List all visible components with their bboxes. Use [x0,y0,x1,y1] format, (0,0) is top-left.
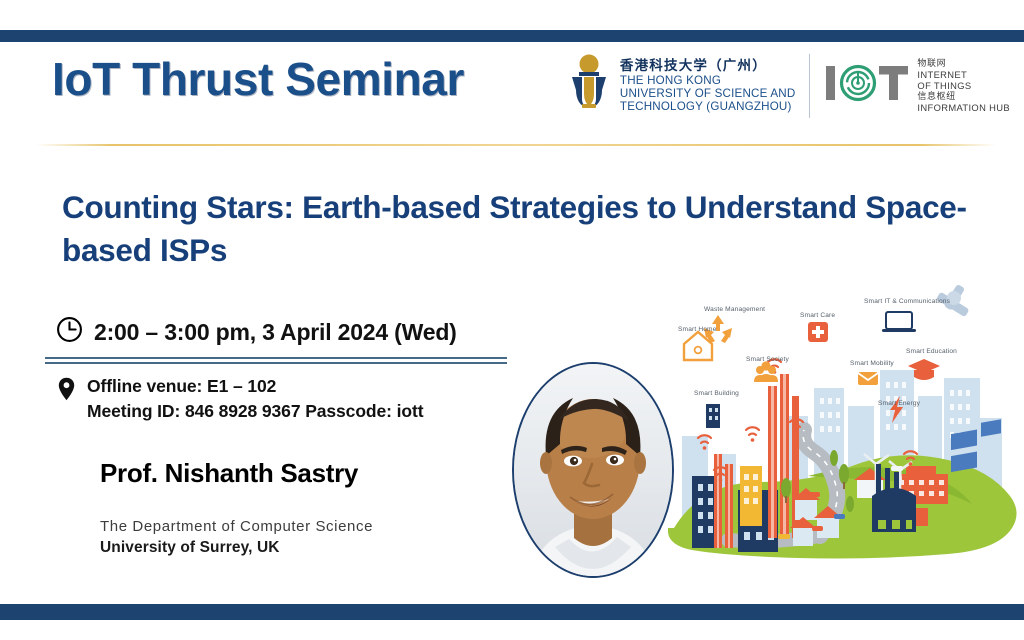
venue-location: Offline venue: E1 – 102 [87,374,423,399]
city-label: Smart Society [746,356,789,363]
iot-hub-logo: 物联网 INTERNET OF THINGS 信息枢纽 INFORMATION … [824,58,1010,113]
hkust-wordmark: 香港科技大学（广州） THE HONG KONG UNIVERSITY OF S… [620,58,796,112]
hkust-name-line1: THE HONG KONG [620,74,796,87]
iot-cn-information-hub: 信息枢纽 [917,91,1010,102]
city-label: Smart Energy [878,400,920,407]
city-label: Smart Mobility [850,360,894,367]
gold-divider-rule [36,144,996,146]
location-pin-icon [58,374,75,406]
seminar-time: 2:00 – 3:00 pm, 3 April 2024 (Wed) [94,319,457,346]
iot-en-information-hub: INFORMATION HUB [917,102,1010,113]
city-label: Smart Care [800,312,835,319]
laptop-icon [882,312,916,332]
speaker-department: The Department of Computer Science [100,518,373,535]
smart-mobility-icon [858,372,878,385]
iot-en-of-things: OF THINGS [917,80,1010,91]
clock-icon [56,316,83,348]
iot-cn-internet-of-things: 物联网 [917,58,1010,69]
top-navy-bar [0,30,1024,42]
hkust-logo: 香港科技大学（广州） THE HONG KONG UNIVERSITY OF S… [567,52,796,119]
speaker-affiliation: University of Surrey, UK [100,539,280,557]
smart-city-illustration: Waste Management Smart Home Smart Care S… [668,278,1018,590]
speaker-block: Prof. Nishanth Sastry [100,458,358,489]
logo-divider [809,54,810,118]
venue-lines: Offline venue: E1 – 102 Meeting ID: 846 … [87,374,423,424]
talk-title: Counting Stars: Earth-based Strategies t… [62,186,972,273]
meeting-id-passcode: Meeting ID: 846 8928 9367 Passcode: iott [87,399,423,424]
city-label: Smart Building [694,390,739,397]
hkust-name-line3: TECHNOLOGY (GUANGZHOU) [620,100,796,113]
city-label: Smart Education [906,348,957,355]
iot-en-internet: INTERNET [917,69,1010,80]
seminar-poster: IoT Thrust Seminar 香港科技大学（广州） THE HONG [0,0,1024,640]
iot-hub-wordmark-text: 物联网 INTERNET OF THINGS 信息枢纽 INFORMATION … [917,58,1010,113]
venue-row: Offline venue: E1 – 102 Meeting ID: 846 … [58,374,423,424]
smart-building-icon [706,404,720,428]
city-label: Smart Home [678,326,717,333]
smart-care-icon [808,322,828,342]
seminar-title: IoT Thrust Seminar [52,52,464,106]
iot-wordmark-icon [824,60,910,111]
speaker-name: Prof. Nishanth Sastry [100,458,358,489]
city-label: Smart IT & Communications [864,298,950,305]
hkust-emblem-icon [567,52,611,119]
city-label: Waste Management [704,306,765,313]
section-divider-rule [45,357,507,364]
hkust-name-cn: 香港科技大学（广州） [620,58,796,73]
time-row: 2:00 – 3:00 pm, 3 April 2024 (Wed) [56,316,457,348]
hkust-name-line2: UNIVERSITY OF SCIENCE AND [620,87,796,100]
bottom-navy-bar [0,604,1024,620]
speaker-portrait [512,362,674,578]
logo-group: 香港科技大学（广州） THE HONG KONG UNIVERSITY OF S… [567,52,1010,119]
poster-header: IoT Thrust Seminar 香港科技大学（广州） THE HONG [0,42,1024,144]
